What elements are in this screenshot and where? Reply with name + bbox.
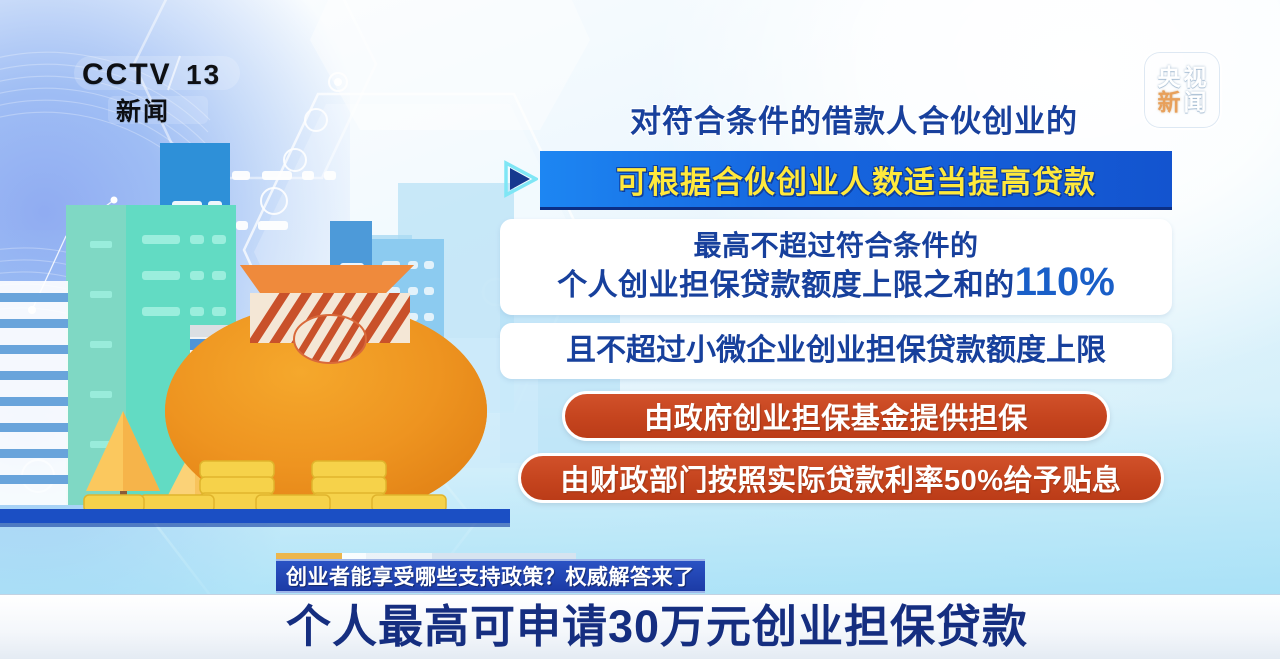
lower-third-headline-text: 个人最高可申请30万元创业担保贷款 bbox=[286, 597, 1028, 657]
lower-third-kicker: 创业者能享受哪些支持政策？权威解答来了 bbox=[276, 559, 705, 593]
lower-third-headline-bar: 个人最高可申请30万元创业担保贷款 bbox=[0, 594, 1280, 659]
pill-guarantee-text: 由政府创业担保基金提供担保 bbox=[644, 395, 1028, 437]
card-110-line2-prefix: 个人创业担保贷款额度上限之和的 bbox=[557, 269, 1015, 302]
cctv-logo-sub: 新闻 bbox=[116, 97, 170, 126]
policy-info-panel: 对符合条件的借款人合伙创业的 可根据合伙创业人数适当提高贷款 最高不超过符合条件… bbox=[500, 96, 1172, 503]
app-logo-char-1: 央 bbox=[1158, 66, 1181, 89]
play-arrow-icon bbox=[502, 160, 538, 198]
app-logo-char-2: 视 bbox=[1184, 66, 1207, 89]
highlight-row: 可根据合伙创业人数适当提高贷款 bbox=[500, 151, 1172, 209]
lower-third-kicker-text: 创业者能享受哪些支持政策？权威解答来了 bbox=[286, 561, 695, 591]
card-limit-line: 且不超过小微企业创业担保贷款额度上限 bbox=[516, 331, 1156, 371]
pill-subsidy: 由财政部门按照实际贷款利率50%给予贴息 bbox=[518, 453, 1164, 503]
card-110-line1: 最高不超过符合条件的 bbox=[518, 229, 1154, 263]
cctv-logo-main: CCTV bbox=[82, 58, 172, 91]
card-110-line2: 个人创业担保贷款额度上限之和的110% bbox=[518, 263, 1154, 305]
percent-value: 110% bbox=[1015, 260, 1115, 304]
broadcast-graphic: CCTV 13 新闻 央 视 新 闻 对符合条件的借款人合伙创业的 可根据合伙创… bbox=[0, 0, 1280, 659]
card-110-percent: 最高不超过符合条件的 个人创业担保贷款额度上限之和的110% bbox=[500, 219, 1172, 315]
app-logo-char-4: 闻 bbox=[1184, 91, 1207, 114]
cctv13-logo: CCTV 13 新闻 bbox=[72, 50, 242, 128]
card-limit: 且不超过小微企业创业担保贷款额度上限 bbox=[500, 323, 1172, 379]
highlight-text: 可根据合伙创业人数适当提高贷款 bbox=[616, 157, 1096, 202]
pill-subsidy-text: 由财政部门按照实际贷款利率50%给予贴息 bbox=[560, 457, 1121, 499]
cctv-logo-number: 13 bbox=[186, 59, 221, 90]
pill-guarantee: 由政府创业担保基金提供担保 bbox=[562, 391, 1110, 441]
lead-line: 对符合条件的借款人合伙创业的 bbox=[536, 96, 1172, 141]
highlight-bar: 可根据合伙创业人数适当提高贷款 bbox=[540, 151, 1172, 210]
